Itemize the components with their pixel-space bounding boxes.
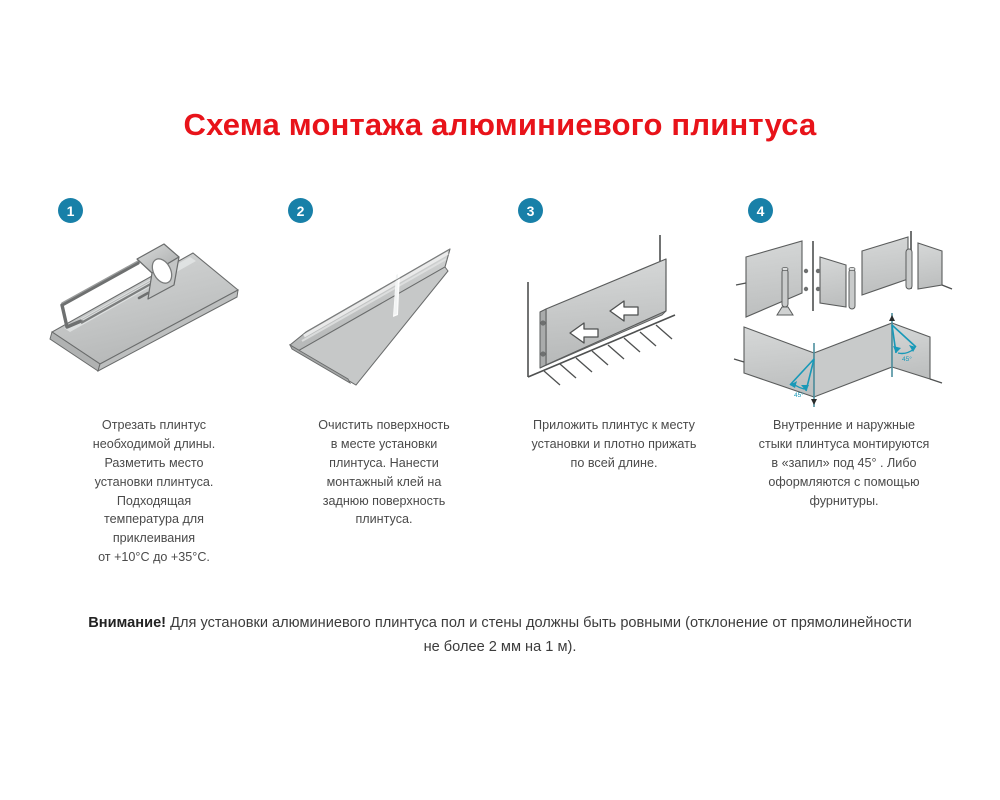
step-2-illustration <box>270 227 500 412</box>
step-1-illustration <box>40 227 270 412</box>
step-4: 4 <box>730 198 960 510</box>
step-number-badge-3: 3 <box>518 198 543 223</box>
step-4-illustration: 45° 45° <box>730 227 960 412</box>
page-title: Схема монтажа алюминиевого плинтуса <box>0 107 1000 143</box>
step-1-caption: Отрезать плинтус необходимой длины. Разм… <box>50 416 258 567</box>
warning-note-lead: Внимание! <box>88 615 166 631</box>
step-number-badge-1: 1 <box>58 198 83 223</box>
step-1: 1 <box>40 198 270 567</box>
step-number-badge-4: 4 <box>748 198 773 223</box>
step-3: 3 <box>500 198 730 473</box>
angle-label-inner-45: 45° <box>794 391 804 399</box>
joint-assembled-bottom: 45° 45° <box>734 313 942 407</box>
step-4-caption: Внутренние и наружные стыки плинтуса мон… <box>740 416 948 510</box>
step-number-badge-2: 2 <box>288 198 313 223</box>
warning-note: Внимание! Для установки алюминиевого пли… <box>82 612 918 659</box>
warning-note-body: Для установки алюминиевого плинтуса пол … <box>166 615 912 655</box>
step-3-caption: Приложить плинтус к месту установки и пл… <box>510 416 718 473</box>
step-3-illustration <box>500 227 730 412</box>
steps-row: 1 <box>40 198 960 567</box>
infographic-page: Схема монтажа алюминиевого плинтуса 1 <box>0 0 1000 800</box>
step-2: 2 <box>270 198 500 529</box>
step-2-caption: Очистить поверхность в месте установки п… <box>280 416 488 529</box>
angle-label-outer-45: 45° <box>902 355 912 363</box>
joint-exploded-top <box>736 231 952 317</box>
